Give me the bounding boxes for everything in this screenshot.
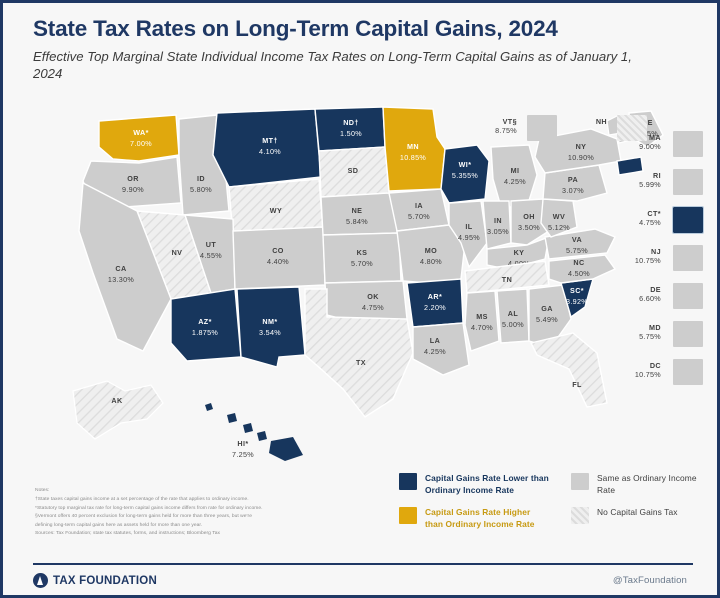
callout-DE-swatch [673,283,703,309]
state-WA[interactable]: WA* 7.00% [99,115,179,161]
state-NE[interactable]: NE 5.84% [321,193,397,235]
state-MS-label: MS [476,312,488,321]
state-AZ[interactable]: AZ* 1.875% [171,289,241,361]
callout-MD-value: 5.75% [601,332,661,341]
legend-swatch-hatch [571,507,589,524]
state-HI[interactable]: HI* 7.25% [205,403,303,461]
state-MT-label: MT† [262,136,278,145]
legend-label-gray: Same as Ordinary Income Rate [597,473,699,497]
state-IL-value: 4.95% [458,233,480,242]
state-ND[interactable]: ND† 1.50% [315,107,385,151]
callout-DC-label: DC [601,361,661,370]
infographic-frame: State Tax Rates on Long-Term Capital Gai… [0,0,720,598]
infographic-sheet: State Tax Rates on Long-Term Capital Gai… [3,3,717,595]
legend-swatch-gray [571,473,589,490]
state-FL-label: FL [572,380,582,389]
state-LA[interactable]: LA 4.25% [413,323,469,375]
callout-MD[interactable]: MD 5.75% [601,321,705,357]
state-CA[interactable]: CA 13.30% [79,183,171,351]
state-KS-label: KS [357,248,368,257]
footer-divider [33,563,693,565]
state-NC-label: NC [573,258,584,267]
notes-line-3: §Vermont offers 40 percent exclusion for… [35,513,375,521]
state-ID-label: ID [197,174,205,183]
callout-CT-label: CT* [601,209,661,218]
state-MI-value: 4.25% [504,177,526,186]
state-AK[interactable]: AK [73,381,163,439]
state-KY-label: KY [514,248,525,257]
state-LA-label: LA [430,336,440,345]
state-NY-value: 10.90% [568,153,594,162]
state-IN[interactable]: IN 3.05% [483,201,511,249]
callout-CT-value: 4.75% [601,218,661,227]
callout-NJ-label: NJ [601,247,661,256]
state-CO-label: CO [272,246,284,255]
state-IA-value: 5.70% [408,212,430,221]
state-AK-label: AK [111,396,123,405]
state-NY-label: NY [576,142,587,151]
state-AL-value: 5.00% [502,320,524,329]
state-ID-value: 5.80% [190,185,212,194]
state-AR[interactable]: AR* 2.20% [407,279,463,327]
callout-MA-swatch [673,131,703,157]
state-callout-column: MA 9.00% RI 5.99% CT* 4.75% NJ 10.75% [601,131,705,397]
state-OR-label: OR [127,174,139,183]
state-WV-label: WV [553,212,565,221]
legend-item-hatch[interactable]: No Capital Gains Tax [571,507,699,524]
state-KS[interactable]: KS 5.70% [323,233,401,283]
header: State Tax Rates on Long-Term Capital Gai… [33,17,693,83]
state-WI[interactable]: WI* 5.355% [441,145,489,203]
state-MI-label: MI [511,166,520,175]
state-IA-label: IA [415,201,423,210]
state-WV-value: 5.12% [548,223,570,232]
state-TN-label: TN [502,275,512,284]
callout-NH-label: NH [545,117,607,126]
state-WA-value: 7.00% [130,139,152,148]
footer: TAX FOUNDATION @TaxFoundation [33,573,687,595]
legend-item-gray[interactable]: Same as Ordinary Income Rate [571,473,699,497]
state-OH-value: 3.50% [518,223,540,232]
callout-RI-label: RI [601,171,661,180]
callout-VT-label: VT§ [455,117,517,126]
state-OK-label: OK [367,292,379,301]
state-GA-label: GA [541,304,553,313]
state-IL-label: IL [465,222,472,231]
callout-DE[interactable]: DE 6.60% [601,283,705,319]
callout-RI[interactable]: RI 5.99% [601,169,705,205]
state-OH-label: OH [523,212,535,221]
state-MN-value: 10.85% [400,153,426,162]
state-MN-label: MN [407,142,419,151]
state-WY-label: WY [270,206,282,215]
state-AL-label: AL [508,309,519,318]
state-NM-label: NM* [262,317,277,326]
state-MT-value: 4.10% [259,147,281,156]
callout-DE-value: 6.60% [601,294,661,303]
state-NM[interactable]: NM* 3.54% [237,287,305,367]
state-HI-label: HI* [237,439,248,448]
state-CO[interactable]: CO 4.40% [233,227,325,289]
callout-DC[interactable]: DC 10.75% [601,359,705,395]
state-VA-value: 5.75% [566,246,588,255]
notes-line-2: *Statutory top marginal tax rate for lon… [35,505,375,513]
state-IN-value: 3.05% [487,227,509,236]
legend-label-gold: Capital Gains Rate Higher than Ordinary … [425,507,549,531]
state-AL[interactable]: AL 5.00% [497,289,529,343]
callout-RI-swatch [673,169,703,195]
state-PA-value: 3.07% [562,186,584,195]
state-NE-value: 5.84% [346,217,368,226]
state-MO-value: 4.80% [420,257,442,266]
state-MS-value: 4.70% [471,323,493,332]
legend-label-hatch: No Capital Gains Tax [597,507,678,519]
legend-label-navy: Capital Gains Rate Lower than Ordinary I… [425,473,549,497]
state-MO-label: MO [425,246,437,255]
state-NV-label: NV [172,248,183,257]
state-UT-value: 4.55% [200,251,222,260]
state-OK-value: 4.75% [362,303,384,312]
state-LA-value: 4.25% [424,347,446,356]
callout-NJ[interactable]: NJ 10.75% [601,245,705,281]
state-ND-label: ND† [343,118,359,127]
callout-MD-label: MD [601,323,661,332]
state-MS[interactable]: MS 4.70% [465,291,499,351]
state-CA-value: 13.30% [108,275,134,284]
page-title: State Tax Rates on Long-Term Capital Gai… [33,17,693,42]
notes-block: Notes: †State taxes capital gains income… [35,487,375,539]
legend-swatch-navy [399,473,417,490]
state-TX-label: TX [356,358,366,367]
legend-swatch-gold [399,507,417,524]
notes-heading: Notes: [35,487,375,495]
tax-foundation-logo[interactable]: TAX FOUNDATION [33,573,157,588]
callout-CT[interactable]: CT* 4.75% [601,207,705,243]
state-VA-label: VA [572,235,582,244]
state-SD[interactable]: SD [319,147,389,197]
callout-MA[interactable]: MA 9.00% [601,131,705,167]
callout-VT[interactable]: VT§ 8.75% [459,115,557,143]
state-MN[interactable]: MN 10.85% [383,107,445,191]
callout-NJ-value: 10.75% [601,256,661,265]
state-IA[interactable]: IA 5.70% [389,189,449,231]
state-SD-label: SD [348,166,359,175]
state-PA-label: PA [568,175,578,184]
state-GA-value: 5.49% [536,315,558,324]
state-FL[interactable]: FL [531,333,607,407]
notes-line-4: defining long-term capital gains here as… [35,522,375,530]
state-CO-value: 4.40% [267,257,289,266]
social-handle[interactable]: @TaxFoundation [613,575,687,586]
callout-RI-value: 5.99% [601,180,661,189]
state-AZ-value: 1.875% [192,328,218,337]
state-WI-label: WI* [459,160,472,169]
callout-MA-value: 9.00% [601,142,661,151]
state-AR-value: 2.20% [424,303,446,312]
state-WI-value: 5.355% [452,171,478,180]
state-MT[interactable]: MT† 4.10% [213,109,321,187]
callout-CT-swatch [673,207,703,233]
state-SC-label: SC* [570,286,584,295]
state-NC-value: 4.50% [568,269,590,278]
callout-MD-swatch [673,321,703,347]
state-NM-value: 3.54% [259,328,281,337]
legend-item-navy[interactable]: Capital Gains Rate Lower than Ordinary I… [399,473,549,497]
state-WA-label: WA* [133,128,149,137]
page-subtitle: Effective Top Marginal State Individual … [33,48,643,83]
state-KS-value: 5.70% [351,259,373,268]
state-AZ-label: AZ* [198,317,212,326]
callout-MA-label: MA [601,133,661,142]
callout-NJ-swatch [673,245,703,271]
state-WV[interactable]: WV 5.12% [541,199,577,237]
callout-VT-value: 8.75% [455,126,517,135]
state-AR-label: AR* [428,292,442,301]
state-IN-label: IN [494,216,502,225]
state-OR-value: 9.90% [122,185,144,194]
state-SC-value: 3.92% [566,297,588,306]
brand-name: TAX FOUNDATION [53,575,157,587]
map-legend: Capital Gains Rate Lower than Ordinary I… [399,473,699,535]
mountain-icon [33,573,48,588]
state-UT-label: UT [206,240,217,249]
callout-DC-value: 10.75% [601,370,661,379]
callout-DC-swatch [673,359,703,385]
state-CA-label: CA [115,264,126,273]
state-OK[interactable]: OK 4.75% [325,281,407,321]
state-NE-label: NE [352,206,363,215]
state-MI[interactable]: MI 4.25% [491,145,537,207]
legend-item-gold[interactable]: Capital Gains Rate Higher than Ordinary … [399,507,549,531]
callout-DE-label: DE [601,285,661,294]
state-HI-value: 7.25% [232,450,254,459]
state-ND-value: 1.50% [340,129,362,138]
notes-line-1: †State taxes capital gains income at a s… [35,496,375,504]
notes-sources: Sources: Tax Foundation; state tax statu… [35,530,375,538]
